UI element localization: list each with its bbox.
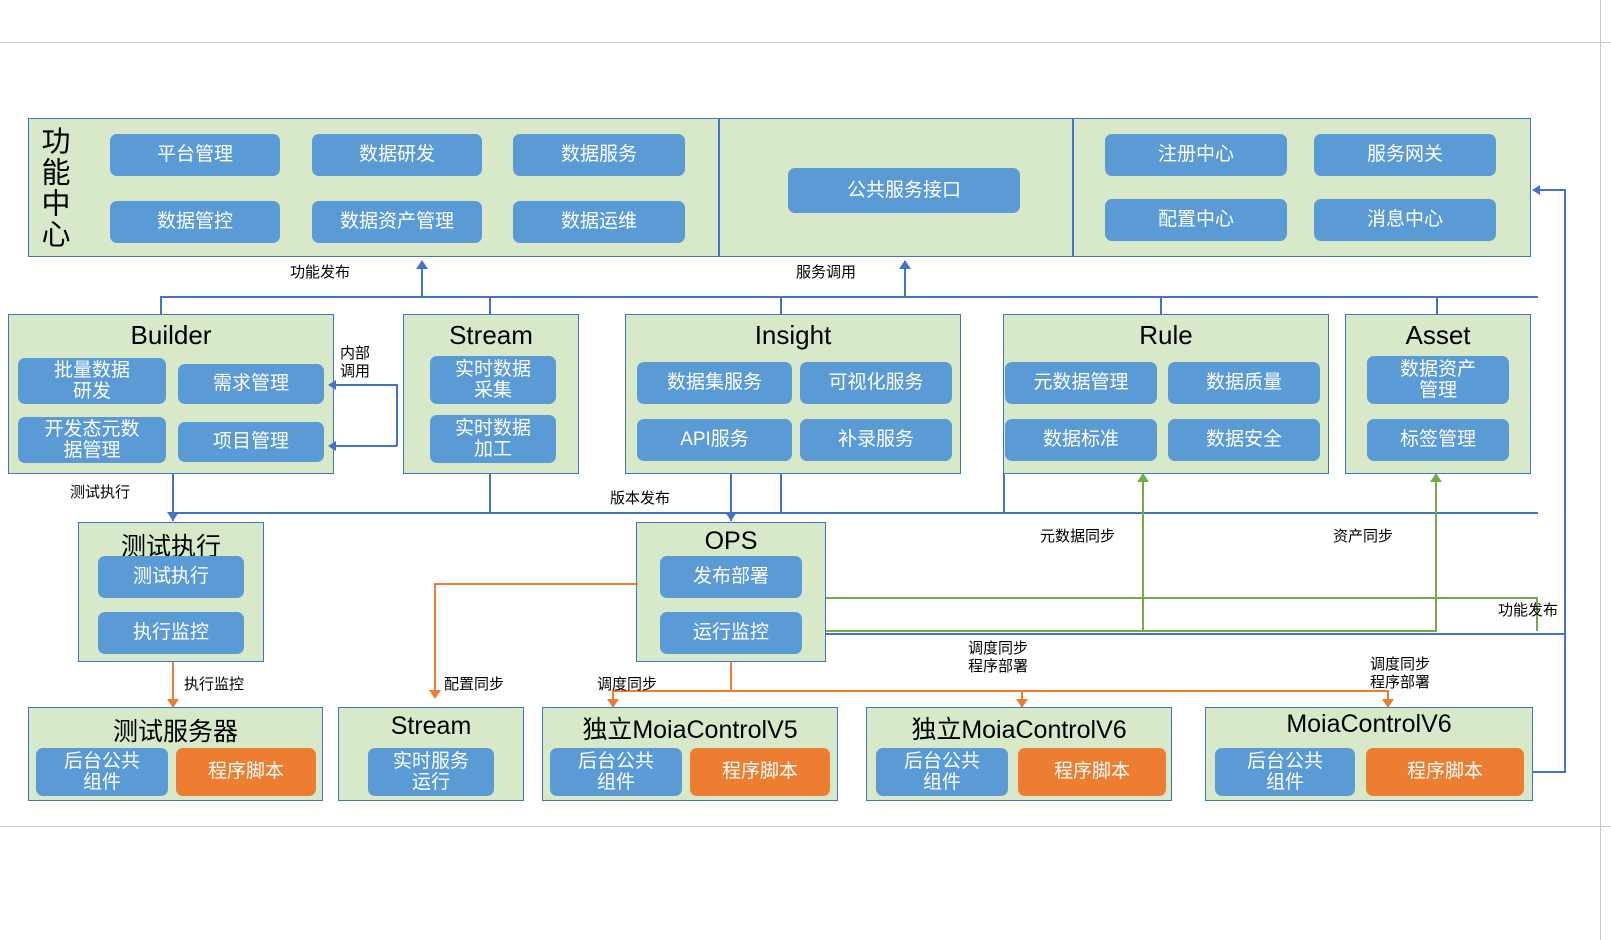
blue-ops-right (826, 633, 1566, 635)
panel-stream-title: Stream (403, 320, 579, 351)
chip-moia-v5-backend[interactable]: 后台公共 组件 (550, 748, 682, 796)
riser-stream-down (489, 474, 491, 512)
chip-realtime-collect[interactable]: 实时数据 采集 (430, 356, 556, 404)
arrow-test-exec (167, 512, 179, 521)
chip-data-operations[interactable]: 数据运维 (513, 201, 685, 243)
chip-data-quality[interactable]: 数据质量 (1168, 362, 1320, 404)
chip-dataset-service[interactable]: 数据集服务 (637, 362, 792, 404)
chip-batch-data-dev[interactable]: 批量数据 研发 (18, 358, 166, 404)
arrow-config-sync (429, 690, 441, 699)
chip-supplement-service[interactable]: 补录服务 (800, 419, 952, 461)
riser-feature-publish (421, 268, 423, 297)
label-schedule-deploy-right: 调度同步 程序部署 (1370, 656, 1430, 693)
blue-bottom-right-link (1533, 771, 1566, 773)
riser-insight-down (780, 474, 782, 512)
chip-api-service[interactable]: API服务 (637, 419, 792, 461)
label-metadata-sync: 元数据同步 (1040, 528, 1115, 546)
label-internal-call: 内部 调用 (340, 345, 370, 382)
riser-rule-down (1003, 474, 1005, 512)
chip-data-asset-mgmt[interactable]: 数据资产 管理 (1367, 356, 1509, 404)
chip-test-server-backend[interactable]: 后台公共 组件 (36, 748, 168, 796)
chip-test-execution[interactable]: 测试执行 (98, 556, 244, 598)
chip-moia-v6s-script[interactable]: 程序脚本 (1018, 748, 1166, 796)
panel-moia-v6-standalone-title: 独立MoiaControlV6 (866, 710, 1172, 746)
band-divider-1 (718, 119, 720, 256)
label-service-call: 服务调用 (796, 264, 856, 282)
chip-data-service[interactable]: 数据服务 (513, 134, 685, 176)
internal-call-hline-1 (336, 384, 397, 386)
chip-message-center[interactable]: 消息中心 (1314, 199, 1496, 241)
frame-top-hairline (0, 42, 1611, 43)
chip-moia-v6-backend[interactable]: 后台公共 组件 (1215, 748, 1355, 796)
blue-bottom-right-riser (1564, 633, 1566, 771)
arrow-version-publish (725, 512, 737, 521)
orange-config-v (434, 583, 436, 693)
chip-metadata-mgmt[interactable]: 元数据管理 (1005, 362, 1157, 404)
drop-builder (160, 296, 162, 316)
chip-service-gateway[interactable]: 服务网关 (1314, 134, 1496, 176)
chip-public-service-api[interactable]: 公共服务接口 (788, 168, 1020, 213)
green-riser-rule (1142, 482, 1144, 631)
blue-top-return (1540, 189, 1566, 191)
architecture-diagram: 功能中心 平台管理 数据研发 数据服务 数据管控 数据资产管理 数据运维 公共服… (0, 0, 1611, 940)
panel-moia-v5-title: 独立MoiaControlV5 (542, 710, 838, 746)
chip-data-security[interactable]: 数据安全 (1168, 419, 1320, 461)
drop-rule (1160, 296, 1162, 316)
chip-moia-v5-script[interactable]: 程序脚本 (690, 748, 830, 796)
chip-exec-monitor[interactable]: 执行监控 (98, 612, 244, 654)
panel-insight-title: Insight (625, 320, 961, 351)
drop-insight (780, 296, 782, 316)
chip-visualization-service[interactable]: 可视化服务 (800, 362, 952, 404)
chip-data-governance[interactable]: 数据管控 (110, 201, 280, 243)
label-version-publish: 版本发布 (610, 490, 670, 508)
orange-exec-monitor-v (172, 662, 174, 702)
chip-runtime-monitor[interactable]: 运行监控 (660, 612, 802, 654)
chip-requirement-mgmt[interactable]: 需求管理 (178, 364, 324, 404)
chip-release-deploy[interactable]: 发布部署 (660, 556, 802, 598)
bus-products-horizontal (160, 296, 1538, 298)
chip-platform-management[interactable]: 平台管理 (110, 134, 280, 176)
chip-moia-v6s-backend[interactable]: 后台公共 组件 (876, 748, 1008, 796)
riser-service-call (904, 268, 906, 297)
chip-data-development[interactable]: 数据研发 (312, 134, 482, 176)
panel-builder-title: Builder (8, 320, 334, 351)
arrow-metadata-sync (1137, 473, 1149, 482)
chip-stream-runtime[interactable]: 实时服务 运行 (368, 748, 494, 796)
arrow-internal-call-2 (328, 441, 336, 451)
panel-asset-title: Asset (1345, 320, 1531, 351)
label-feature-publish-right: 功能发布 (1430, 602, 1558, 620)
panel-stream-server-title: Stream (338, 712, 524, 741)
band-divider-2 (1072, 119, 1074, 256)
green-bus-horizontal (826, 630, 1437, 632)
green-from-ops (826, 597, 1538, 599)
label-exec-monitor: 执行监控 (184, 676, 244, 694)
label-schedule-deploy-mid: 调度同步 程序部署 (968, 640, 1028, 677)
chip-moia-v6-script[interactable]: 程序脚本 (1366, 748, 1524, 796)
panel-moia-v6-title: MoiaControlV6 (1205, 710, 1533, 739)
chip-data-standard[interactable]: 数据标准 (1005, 419, 1157, 461)
function-center-title: 功能中心 (40, 126, 74, 250)
label-asset-sync: 资产同步 (1333, 528, 1393, 546)
arrow-feature-publish-return (1532, 185, 1540, 195)
orange-trunk-v (730, 662, 732, 690)
arrow-service-call (899, 260, 911, 269)
drop-asset (1436, 296, 1438, 316)
chip-config-center[interactable]: 配置中心 (1105, 199, 1287, 241)
chip-tag-mgmt[interactable]: 标签管理 (1367, 419, 1509, 461)
orange-config-h (434, 583, 638, 585)
label-feature-publish-top: 功能发布 (290, 264, 350, 282)
orange-trunk-h (612, 690, 1387, 692)
frame-right-hairline (1600, 0, 1601, 940)
arrow-feature-publish (416, 260, 428, 269)
panel-ops-title: OPS (636, 527, 826, 556)
chip-dev-metadata-mgmt[interactable]: 开发态元数 据管理 (18, 417, 166, 463)
drop-stream (489, 296, 491, 316)
internal-call-hline-2 (336, 445, 397, 447)
label-config-sync: 配置同步 (444, 676, 504, 694)
panel-test-server-title: 测试服务器 (28, 712, 323, 748)
chip-registry-center[interactable]: 注册中心 (1105, 134, 1287, 176)
label-test-execute: 测试执行 (70, 484, 130, 502)
frame-bottom-hairline (0, 826, 1611, 827)
internal-call-vline (396, 384, 398, 446)
bus-row3-horizontal (172, 512, 1538, 514)
panel-rule-title: Rule (1003, 320, 1329, 351)
chip-test-server-script[interactable]: 程序脚本 (176, 748, 316, 796)
chip-data-asset-management[interactable]: 数据资产管理 (312, 201, 482, 243)
chip-realtime-process[interactable]: 实时数据 加工 (430, 415, 556, 463)
blue-right-riser-top (1564, 189, 1566, 635)
arrow-internal-call-1 (328, 380, 336, 390)
chip-project-mgmt[interactable]: 项目管理 (178, 422, 324, 462)
arrow-asset-sync (1430, 473, 1442, 482)
label-schedule-sync: 调度同步 (597, 676, 657, 694)
